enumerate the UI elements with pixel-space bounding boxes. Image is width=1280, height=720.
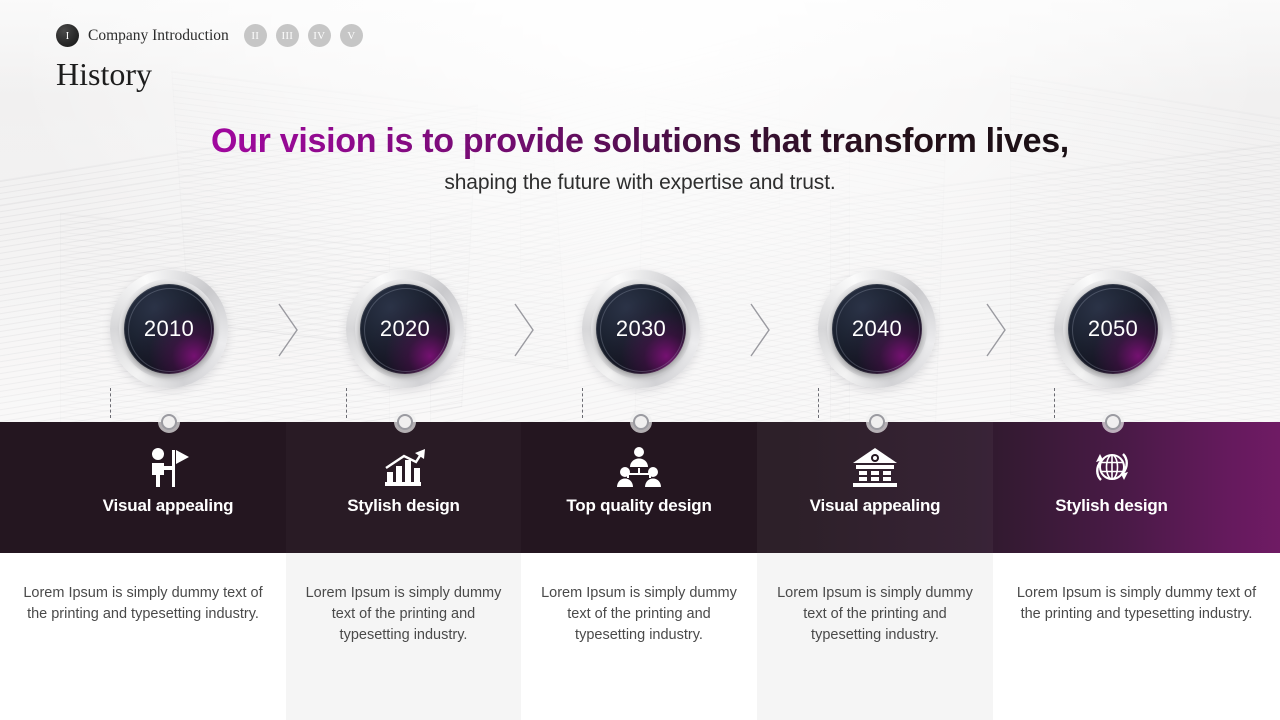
section-badge-3[interactable]: III xyxy=(276,24,299,47)
timeline-node-2010[interactable]: 2010 xyxy=(110,270,228,388)
section-badge-label: III xyxy=(281,30,293,42)
node-year-label: 2030 xyxy=(616,316,666,342)
feature-cell-2[interactable]: Stylish design xyxy=(286,422,521,553)
section-badge-2[interactable]: II xyxy=(244,24,267,47)
section-badge-label: V xyxy=(347,30,355,42)
feature-cell-5[interactable]: Stylish design xyxy=(993,422,1230,553)
feature-cell-4[interactable]: Visual appealing xyxy=(757,422,993,553)
timeline-node-2020[interactable]: 2020 xyxy=(346,270,464,388)
node-connector-line xyxy=(110,388,111,418)
timeline-node-2040[interactable]: 2040 xyxy=(818,270,936,388)
section-badge-4[interactable]: IV xyxy=(308,24,331,47)
bank-building-icon xyxy=(852,446,898,488)
feature-cell-1[interactable]: Visual appealing xyxy=(50,422,286,553)
chevron-right-icon xyxy=(274,300,302,360)
node-connector-line xyxy=(346,388,347,418)
globe-refresh-icon xyxy=(1090,446,1134,488)
feature-title: Visual appealing xyxy=(810,496,941,516)
slide-root: I Company Introduction II III IV V Histo… xyxy=(0,0,1280,720)
description-cell-5: Lorem Ipsum is simply dummy text of the … xyxy=(993,553,1280,720)
description-row: Lorem Ipsum is simply dummy text of the … xyxy=(0,553,1280,720)
node-disc: 2040 xyxy=(832,284,922,374)
section-badge-label: II xyxy=(251,30,259,42)
description-cell-4: Lorem Ipsum is simply dummy text of the … xyxy=(757,553,993,720)
node-connector-line xyxy=(582,388,583,418)
node-disc: 2010 xyxy=(124,284,214,374)
node-year-label: 2050 xyxy=(1088,316,1138,342)
feature-title: Stylish design xyxy=(347,496,459,516)
node-connector-line xyxy=(1054,388,1055,418)
feature-title: Top quality design xyxy=(566,496,711,516)
feature-band: Visual appealing Stylish design xyxy=(0,422,1280,553)
node-disc: 2020 xyxy=(360,284,450,374)
description-cell-3: Lorem Ipsum is simply dummy text of the … xyxy=(521,553,757,720)
section-title: Company Introduction xyxy=(88,27,229,45)
person-with-flag-icon xyxy=(145,446,191,488)
node-disc: 2050 xyxy=(1068,284,1158,374)
description-text: Lorem Ipsum is simply dummy text of the … xyxy=(521,553,757,646)
node-year-label: 2010 xyxy=(144,316,194,342)
vision-subline: shaping the future with expertise and tr… xyxy=(0,171,1280,195)
breadcrumb: I Company Introduction II III IV V xyxy=(56,24,363,47)
chevron-right-icon xyxy=(746,300,774,360)
section-badge-label: IV xyxy=(313,30,325,42)
growth-bar-chart-icon xyxy=(382,446,426,488)
chevron-right-icon xyxy=(982,300,1010,360)
description-text: Lorem Ipsum is simply dummy text of the … xyxy=(757,553,993,646)
node-connector-dot xyxy=(1105,414,1121,430)
section-badge-label: I xyxy=(66,30,70,42)
timeline-node-2030[interactable]: 2030 xyxy=(582,270,700,388)
node-connector-line xyxy=(818,388,819,418)
description-text: Lorem Ipsum is simply dummy text of the … xyxy=(0,553,286,625)
section-badge-5[interactable]: V xyxy=(340,24,363,47)
node-connector-dot xyxy=(869,414,885,430)
description-cell-1: Lorem Ipsum is simply dummy text of the … xyxy=(0,553,286,720)
feature-cell-3[interactable]: Top quality design xyxy=(521,422,757,553)
timeline: 2010 2020 2030 2040 xyxy=(0,270,1280,430)
feature-title: Stylish design xyxy=(1055,496,1167,516)
node-year-label: 2020 xyxy=(380,316,430,342)
description-cell-2: Lorem Ipsum is simply dummy text of the … xyxy=(286,553,521,720)
vision-headline: Our vision is to provide solutions that … xyxy=(211,118,1069,164)
description-text: Lorem Ipsum is simply dummy text of the … xyxy=(993,553,1280,625)
node-connector-dot xyxy=(161,414,177,430)
feature-title: Visual appealing xyxy=(103,496,234,516)
node-year-label: 2040 xyxy=(852,316,902,342)
timeline-node-2050[interactable]: 2050 xyxy=(1054,270,1172,388)
team-hierarchy-icon xyxy=(617,446,661,488)
node-connector-dot xyxy=(397,414,413,430)
page-title: History xyxy=(56,56,152,93)
section-badge-1[interactable]: I xyxy=(56,24,79,47)
node-connector-dot xyxy=(633,414,649,430)
node-disc: 2030 xyxy=(596,284,686,374)
description-text: Lorem Ipsum is simply dummy text of the … xyxy=(286,553,521,646)
vision-statement: Our vision is to provide solutions that … xyxy=(0,118,1280,195)
chevron-right-icon xyxy=(510,300,538,360)
